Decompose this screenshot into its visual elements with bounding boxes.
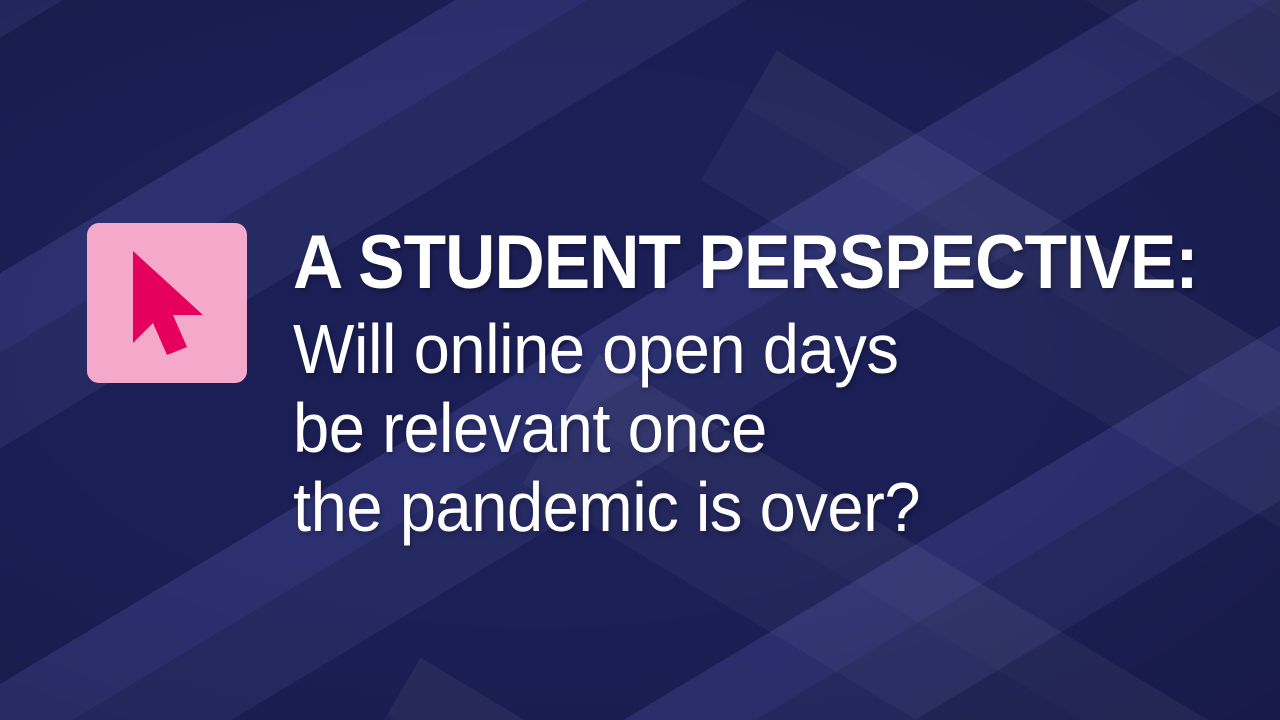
subtitle-line-2: be relevant once	[293, 389, 920, 468]
subtitle: Will online open days be relevant once t…	[293, 310, 920, 547]
slide-canvas: A STUDENT PERSPECTIVE: Will online open …	[0, 0, 1280, 720]
subtitle-line-3: the pandemic is over?	[293, 468, 920, 547]
cursor-badge	[87, 223, 247, 383]
slide-content: A STUDENT PERSPECTIVE: Will online open …	[0, 0, 1280, 720]
page-title: A STUDENT PERSPECTIVE:	[293, 225, 1198, 301]
subtitle-line-1: Will online open days	[293, 310, 920, 389]
mouse-cursor-icon	[119, 247, 215, 359]
